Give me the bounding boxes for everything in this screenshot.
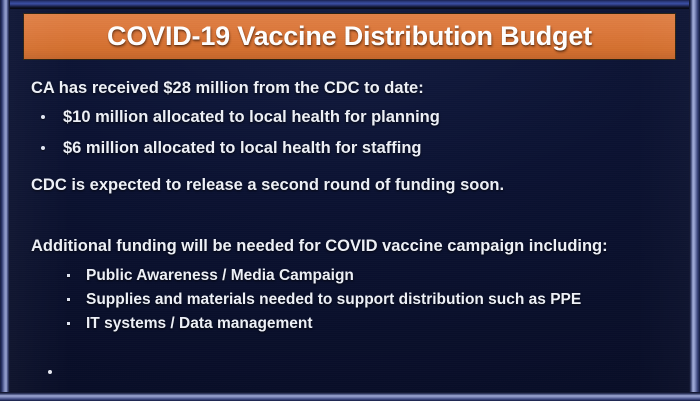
bullet-square-icon <box>67 322 70 325</box>
lead-statement: CA has received $28 million from the CDC… <box>31 78 676 98</box>
slide-title-banner: COVID-19 Vaccine Distribution Budget <box>23 13 676 60</box>
list-item-label: Public Awareness / Media Campaign <box>86 267 354 284</box>
list-item-label: $10 million allocated to local health fo… <box>63 108 440 126</box>
list-item-label: $6 million allocated to local health for… <box>63 139 421 157</box>
list-item: Supplies and materials needed to support… <box>27 290 676 309</box>
frame-edge-right <box>689 0 700 401</box>
bullet-dot-icon <box>41 146 45 150</box>
list-item-label: Supplies and materials needed to support… <box>86 291 581 308</box>
secondary-statement: Additional funding will be needed for CO… <box>31 236 651 256</box>
bullet-dot-icon <box>41 115 45 119</box>
list-item: IT systems / Data management <box>27 314 676 333</box>
list-item: $10 million allocated to local health fo… <box>27 107 676 127</box>
list-item-label: IT systems / Data management <box>86 315 313 332</box>
slide-title: COVID-19 Vaccine Distribution Budget <box>107 21 592 52</box>
primary-bullet-list: $10 million allocated to local health fo… <box>27 107 676 158</box>
slide-body: CA has received $28 million from the CDC… <box>27 65 676 389</box>
secondary-bullet-list: Public Awareness / Media Campaign Suppli… <box>27 266 676 333</box>
mid-statement: CDC is expected to release a second roun… <box>31 175 676 195</box>
slide-frame: COVID-19 Vaccine Distribution Budget CA … <box>0 0 700 401</box>
list-item: Public Awareness / Media Campaign <box>27 266 676 285</box>
list-item: $6 million allocated to local health for… <box>27 138 676 158</box>
frame-edge-bottom <box>0 392 700 401</box>
bullet-square-icon <box>67 274 70 277</box>
bullet-square-icon <box>67 298 70 301</box>
slide-canvas: COVID-19 Vaccine Distribution Budget CA … <box>9 8 690 393</box>
capture-artifact-speck <box>48 370 52 374</box>
